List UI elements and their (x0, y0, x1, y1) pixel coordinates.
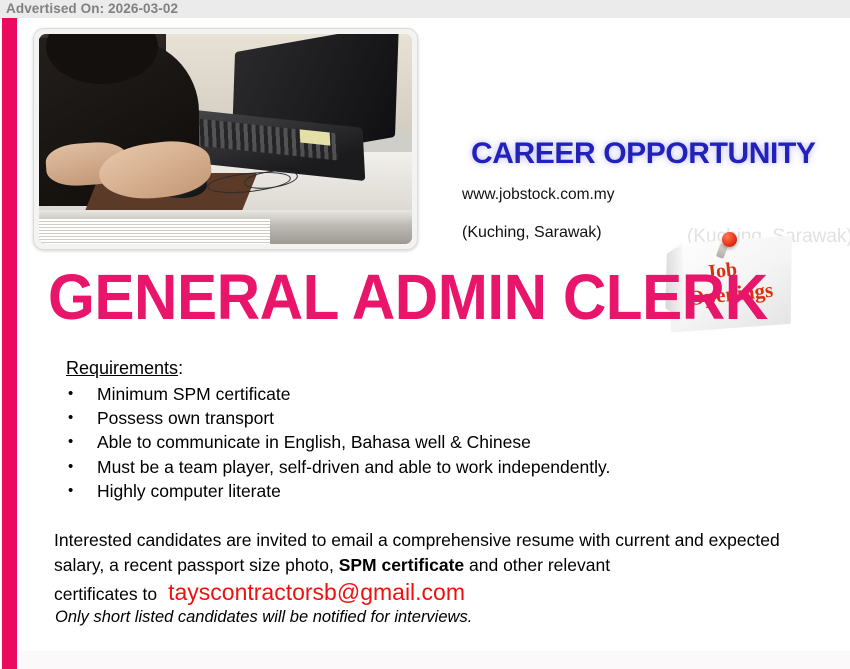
advertised-on-bar: Advertised On: 2026-03-02 (0, 0, 850, 19)
application-paragraph: Interested candidates are invited to ema… (54, 528, 829, 577)
flyer-canvas: CAREER OPPORTUNITY www.jobstock.com.my (… (19, 18, 850, 651)
requirements-heading-text: Requirements (66, 358, 178, 378)
location-label: (Kuching, Sarawak) (462, 224, 602, 242)
job-advertisement-page: Advertised On: 2026-03-02 (0, 0, 850, 669)
requirements-heading-colon: : (178, 358, 183, 378)
requirements-heading: Requirements: (66, 358, 183, 379)
office-photo (39, 34, 412, 244)
requirement-item: Able to communicate in English, Bahasa w… (66, 430, 610, 454)
application-email-address[interactable]: tayscontractorsb@gmail.com (168, 579, 465, 605)
pushpin-icon (722, 232, 737, 247)
bottom-band (19, 651, 850, 669)
requirement-item: Possess own transport (66, 406, 610, 430)
shortlist-note: Only short listed candidates will be not… (55, 608, 472, 627)
application-email-row: certificates totayscontractorsb@gmail.co… (54, 579, 465, 606)
photo-sticky-note (300, 129, 330, 145)
requirement-item: Minimum SPM certificate (66, 382, 610, 406)
office-photo-frame (33, 28, 418, 250)
career-opportunity-title: CAREER OPPORTUNITY (471, 137, 816, 171)
job-title: GENERAL ADMIN CLERK (48, 265, 768, 329)
application-paragraph-bold: SPM certificate (339, 555, 464, 575)
website-url: www.jobstock.com.my (462, 186, 614, 204)
requirement-item: Highly computer literate (66, 479, 610, 503)
application-email-lead: certificates to (54, 584, 157, 604)
requirements-list: Minimum SPM certificate Possess own tran… (66, 382, 610, 503)
advertised-on-label: Advertised On: 2026-03-02 (6, 1, 178, 16)
photo-paper-stack (39, 219, 270, 244)
left-accent-stripe (2, 18, 17, 669)
application-instructions: Interested candidates are invited to ema… (54, 528, 829, 577)
requirement-item: Must be a team player, self-driven and a… (66, 455, 610, 479)
application-paragraph-part2: and other relevant (464, 555, 610, 575)
